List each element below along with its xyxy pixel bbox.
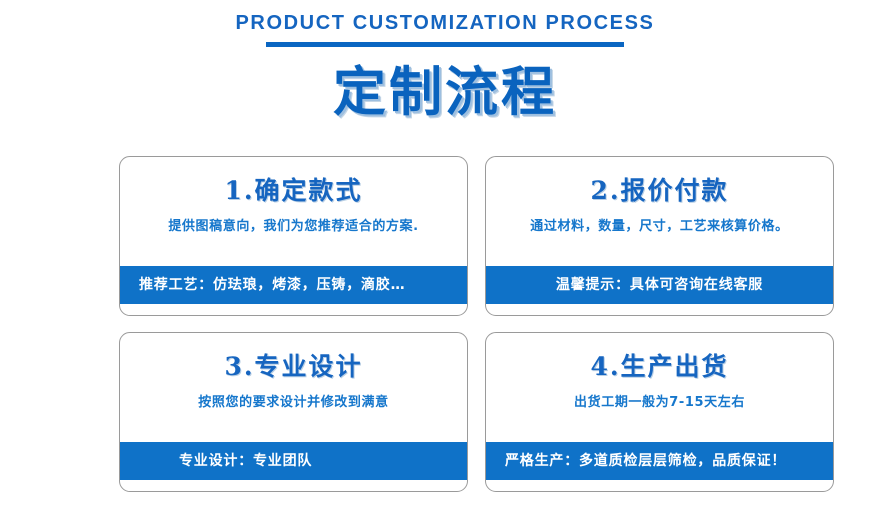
- card-description: 通过材料，数量，尺寸，工艺来核算价格。: [530, 218, 788, 236]
- card-body: 2.报价付款 通过材料，数量，尺寸，工艺来核算价格。: [486, 157, 833, 266]
- card-highlight-bar: 推荐工艺：仿珐琅，烤漆，压铸，滴胶…: [120, 266, 467, 304]
- card-highlight-text: 严格生产：多道质检层层筛检，品质保证！: [505, 451, 786, 471]
- process-step-card-3: 3.专业设计 按照您的要求设计并修改到满意 专业设计：专业团队: [119, 332, 468, 492]
- page-title: 定制流程: [333, 62, 557, 124]
- card-body: 4.生产出货 出货工期一般为7-15天左右: [486, 333, 833, 442]
- banner-title-wrap: 定制流程: [0, 62, 890, 124]
- card-highlight-bar: 专业设计：专业团队: [120, 442, 467, 480]
- process-step-grid: 1.确定款式 提供图稿意向，我们为您推荐适合的方案. 推荐工艺：仿珐琅，烤漆，压…: [119, 156, 834, 492]
- card-heading: 3.专业设计: [224, 351, 362, 383]
- card-heading: 2.报价付款: [590, 175, 728, 207]
- card-highlight-text: 专业设计：专业团队: [179, 451, 312, 471]
- process-step-card-1: 1.确定款式 提供图稿意向，我们为您推荐适合的方案. 推荐工艺：仿珐琅，烤漆，压…: [119, 156, 468, 316]
- card-heading: 4.生产出货: [590, 351, 728, 383]
- card-highlight-text: 推荐工艺：仿珐琅，烤漆，压铸，滴胶…: [139, 275, 405, 295]
- card-description: 按照您的要求设计并修改到满意: [198, 394, 388, 412]
- card-body: 3.专业设计 按照您的要求设计并修改到满意: [120, 333, 467, 442]
- card-heading: 1.确定款式: [224, 175, 362, 207]
- card-description: 出货工期一般为7-15天左右: [574, 394, 745, 412]
- card-body: 1.确定款式 提供图稿意向，我们为您推荐适合的方案.: [120, 157, 467, 266]
- process-step-card-2: 2.报价付款 通过材料，数量，尺寸，工艺来核算价格。 温馨提示：具体可咨询在线客…: [485, 156, 834, 316]
- card-highlight-bar: 严格生产：多道质检层层筛检，品质保证！: [486, 442, 833, 480]
- card-highlight-text: 温馨提示：具体可咨询在线客服: [556, 275, 763, 295]
- card-highlight-bar: 温馨提示：具体可咨询在线客服: [486, 266, 833, 304]
- card-description: 提供图稿意向，我们为您推荐适合的方案.: [168, 218, 418, 236]
- header-accent-rule: [266, 42, 624, 47]
- customization-process-banner: PRODUCT CUSTOMIZATION PROCESS 定制流程 1.确定款…: [0, 0, 890, 514]
- header-eyebrow-text: PRODUCT CUSTOMIZATION PROCESS: [0, 10, 890, 36]
- banner-header: PRODUCT CUSTOMIZATION PROCESS: [0, 10, 890, 47]
- process-step-card-4: 4.生产出货 出货工期一般为7-15天左右 严格生产：多道质检层层筛检，品质保证…: [485, 332, 834, 492]
